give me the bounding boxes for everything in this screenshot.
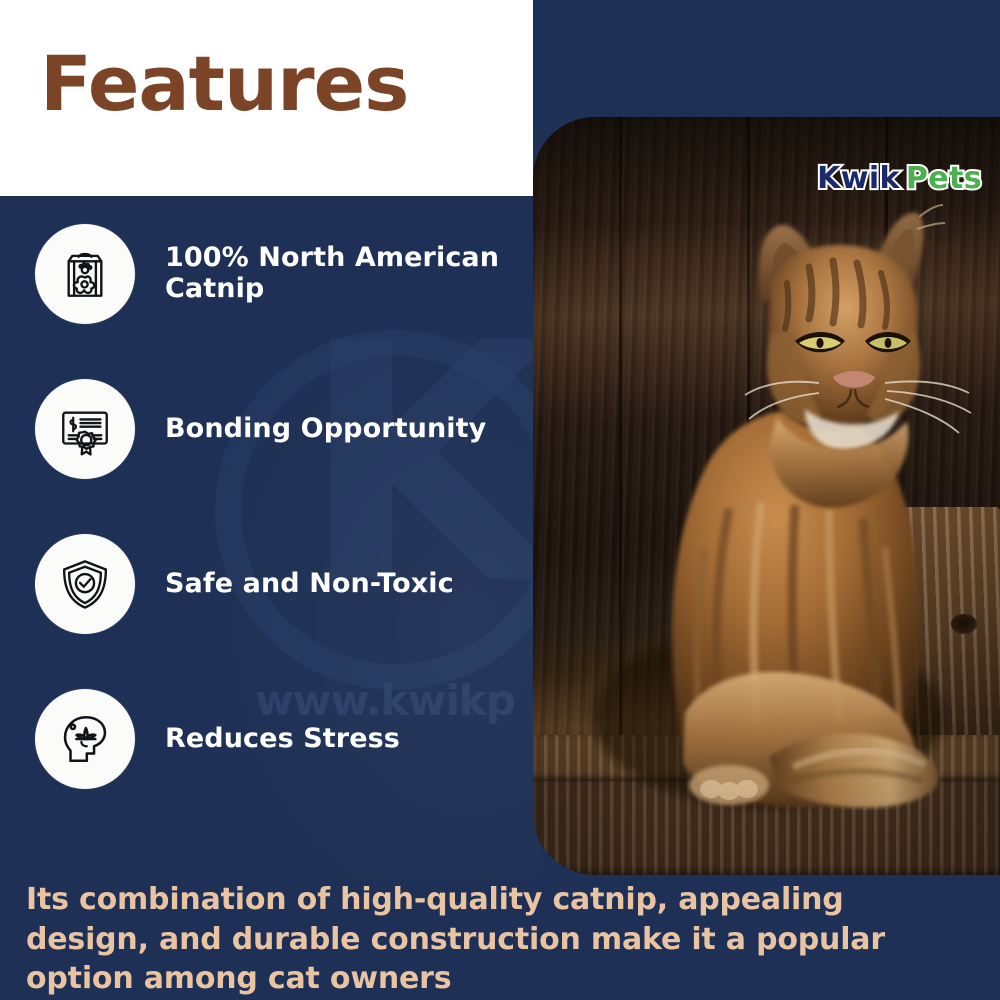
feature-row: 100% North American Catnip [0, 196, 533, 351]
feature-label: Safe and Non-Toxic [165, 568, 515, 600]
kwik-pets-logo: KwikPets [817, 164, 982, 194]
cat-photo-inner [533, 117, 1000, 875]
logo-kwik-text: Kwik [817, 161, 900, 196]
bottom-caption: Its combination of high-quality catnip, … [26, 880, 956, 999]
feature-row: Bonding Opportunity [0, 351, 533, 506]
feature-list: 100% North American Catnip Bonding Oppor… [0, 196, 533, 816]
certificate-icon [35, 379, 135, 479]
feature-label: 100% North American Catnip [165, 242, 515, 306]
cat-photo [533, 117, 1000, 875]
feature-row: Reduces Stress [0, 661, 533, 816]
shield-check-icon [35, 534, 135, 634]
infographic-canvas: K www.kwikp [0, 0, 1000, 1000]
page-title: Features [40, 46, 408, 122]
cat-figure [533, 117, 1000, 875]
header-band: Features [0, 0, 533, 196]
logo-pets-text: Pets [906, 161, 982, 196]
head-lotus-icon [35, 689, 135, 789]
feature-label: Bonding Opportunity [165, 413, 515, 445]
catnip-bag-icon [35, 224, 135, 324]
feature-label: Reduces Stress [165, 723, 515, 755]
feature-row: Safe and Non-Toxic [0, 506, 533, 661]
